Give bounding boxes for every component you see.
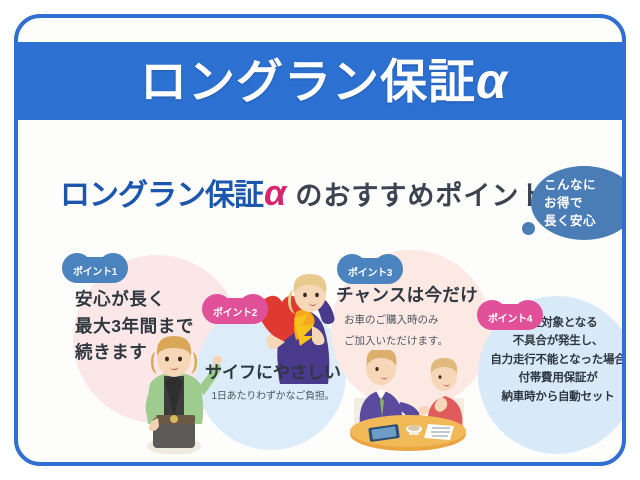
point-3-text: チャンスは今だけ お車のご購入時のみ ご加入いただけます。 — [336, 282, 488, 350]
speech-bubble: こんなに お得で 長く安心 — [531, 166, 626, 240]
warranty-poster: ロングラン保証α ロングラン保証 α のおすすめポイント こんなに お得で 長く… — [0, 0, 640, 480]
subheadline-rest: のおすすめポイント — [295, 174, 547, 213]
point-1-text: 安心が長く 最大3年間まで 続きます — [75, 286, 194, 366]
point-2-badge-label: ポイント2 — [213, 304, 257, 319]
point-3-head: チャンスは今だけ — [336, 282, 488, 307]
header-title-alpha: α — [476, 53, 508, 109]
point-3-badge: ポイント3 — [342, 258, 398, 284]
speech-bubble-line-3: 長く安心 — [544, 212, 596, 230]
header-banner: ロングラン保証α — [14, 42, 626, 120]
point-1-badge-label: ポイント1 — [73, 263, 117, 278]
point-3-badge-label: ポイント3 — [348, 264, 392, 279]
subheadline: ロングラン保証 α のおすすめポイント — [60, 170, 547, 214]
subheadline-brand: ロングラン保証 — [60, 170, 263, 214]
point-1-head-line-3: 続きます — [75, 339, 194, 366]
subheadline-alpha: α — [264, 172, 286, 214]
point-4-badge-label: ポイント4 — [488, 310, 532, 325]
point-2-head: サイフにやさしい — [200, 358, 346, 383]
point-1-head-line-2: 最大3年間まで — [75, 313, 194, 340]
point-4-line-5: 納車時から自動セット — [478, 388, 626, 406]
illustration-consultation-table — [336, 350, 482, 454]
point-4-line-2: 不具合が発生し、 — [478, 332, 626, 350]
speech-bubble-tail — [522, 222, 535, 235]
point-3-sub-line-2: ご加入いただけます。 — [336, 333, 488, 349]
point-3-sub-line-1: お車のご購入時のみ — [336, 312, 488, 328]
speech-bubble-line-2: お得で — [544, 194, 583, 212]
point-4-line-4: 付帯費用保証が — [478, 369, 626, 387]
point-4-line-3: 自力走行不能となった場合 — [478, 351, 626, 369]
point-2-badge: ポイント2 — [207, 298, 263, 324]
poster-frame: ロングラン保証α ロングラン保証 α のおすすめポイント こんなに お得で 長く… — [14, 14, 626, 466]
point-2-text: サイフにやさしい 1日あたりわずかなご負担。 — [200, 358, 346, 402]
header-title-text: ロングラン保証 — [140, 55, 476, 108]
speech-bubble-line-1: こんなに — [544, 176, 596, 194]
header-title: ロングラン保証α — [140, 56, 508, 106]
consultation-svg — [336, 350, 482, 454]
point-2-sub: 1日あたりわずかなご負担。 — [200, 387, 346, 402]
point-1-head-line-1: 安心が長く — [75, 286, 194, 313]
point-1-badge: ポイント1 — [67, 257, 123, 283]
point-4-badge: ポイント4 — [482, 304, 538, 330]
